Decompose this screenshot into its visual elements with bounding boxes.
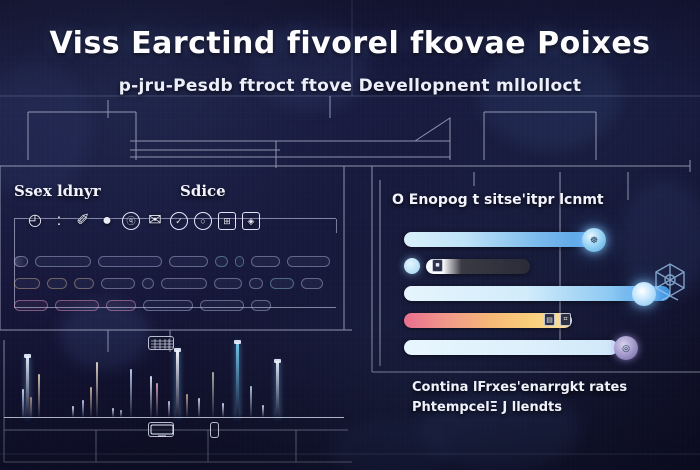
chart-bar-cap [174,348,181,352]
left-panel-toolbar[interactable]: ◴:✐●ⓠ✉✓○⊞◈ [26,212,260,230]
bar-chart [0,330,352,426]
list-item [200,300,244,311]
list-item [14,256,28,267]
search-icon[interactable]: ⓠ [122,212,140,230]
pen-icon[interactable]: ✐ [74,212,92,230]
slider-track[interactable] [404,232,604,247]
chart-baseline [4,417,344,418]
screenshot-root: Viss Earctind fivorel fkovae Poixes p-jr… [0,0,700,470]
list-item [251,300,271,311]
list-item [287,256,330,267]
slider-gradient[interactable]: ▤⌗ [404,311,670,329]
list-item [161,278,207,289]
monitor-icon [148,422,174,437]
chart-bar [262,405,264,417]
list-row-2 [14,274,330,292]
list-row-1 [14,252,330,270]
list-item [169,256,208,267]
chart-bar-cap [234,340,241,344]
slider-track[interactable] [404,286,670,301]
list-item [14,278,40,289]
chart-bar [276,361,279,417]
list-item [55,300,99,311]
slider-chip-icon[interactable]: ■ [432,259,443,272]
chart-bar [26,356,29,417]
chart-bar [72,406,74,417]
list-item [214,278,242,289]
list-item [251,256,280,267]
slider-chip-icon-2[interactable]: ⌗ [560,313,571,326]
caption-line-2: PhtempcelΞ J llendts [412,398,627,418]
smiley-icon[interactable]: ○ [194,212,212,230]
chart-bar [168,401,170,417]
chart-bar [212,372,214,417]
list-item [301,278,323,289]
list-item [270,278,294,289]
chart-bar [186,394,188,417]
chart-bar [156,383,158,417]
list-item [142,278,154,289]
right-panel-caption: Contina lFrxes'enarrgkt rates PhtempcelΞ… [412,378,627,418]
list-item [143,300,193,311]
chart-bar-cap [274,359,281,363]
chart-bar [96,362,98,417]
chart-bar [112,408,114,417]
list-item [47,278,67,289]
chart-bar [130,369,132,417]
slider-lead-dot[interactable] [404,258,420,274]
chart-bar [82,400,84,417]
slider-track[interactable] [404,340,618,355]
caption-line-1: Contina lFrxes'enarrgkt rates [412,378,627,398]
slider-knob[interactable]: ◎ [614,336,638,360]
list-item [101,278,135,289]
decorative-glyph [650,262,690,308]
chart-bar [22,389,24,417]
list-item [14,300,48,311]
slider-group[interactable]: ☸■▤⌗◎ [404,230,670,365]
clock-icon[interactable]: ◴ [26,212,44,230]
slider-bottom[interactable]: ◎ [404,338,670,356]
list-item [106,300,136,311]
chart-bar [90,387,92,417]
chart-bar-cap [24,354,31,358]
chart-bar [222,403,224,417]
chart-bar [150,376,152,417]
chart-bar [198,398,200,417]
grid-icon[interactable]: ⊞ [218,212,236,230]
page-subtitle: p-jru-Pesdb ftroct ftove Devellopnent ml… [0,76,700,96]
chart-bar [176,350,179,417]
keyboard-icon [148,336,174,350]
list-row-3 [14,296,330,314]
slider-secondary[interactable]: ■ [404,257,670,275]
chart-bar [250,386,252,417]
settings-icon[interactable]: ☸ [582,228,606,252]
list-item [35,256,91,267]
colon-icon[interactable]: : [50,212,68,230]
left-panel-list [14,252,330,318]
dot-icon[interactable]: ● [98,212,116,230]
page-title: Viss Earctind fivorel fkovae Poixes [0,26,700,61]
list-item [74,278,94,289]
slider-chip-icon[interactable]: ▤ [544,313,555,326]
list-item [215,256,229,267]
chart-bar [38,374,40,417]
slider-wide[interactable] [404,284,670,302]
slider-primary[interactable]: ☸ [404,230,670,248]
chart-bar [236,342,239,417]
chart-bar [120,410,122,417]
list-item [235,256,244,267]
check-circle-icon[interactable]: ✓ [170,212,188,230]
mail-icon[interactable]: ✉ [146,212,164,230]
list-item [249,278,263,289]
chart-bar [30,397,32,417]
tag-icon[interactable]: ◈ [242,212,260,230]
phone-icon [210,422,219,438]
list-item [98,256,162,267]
